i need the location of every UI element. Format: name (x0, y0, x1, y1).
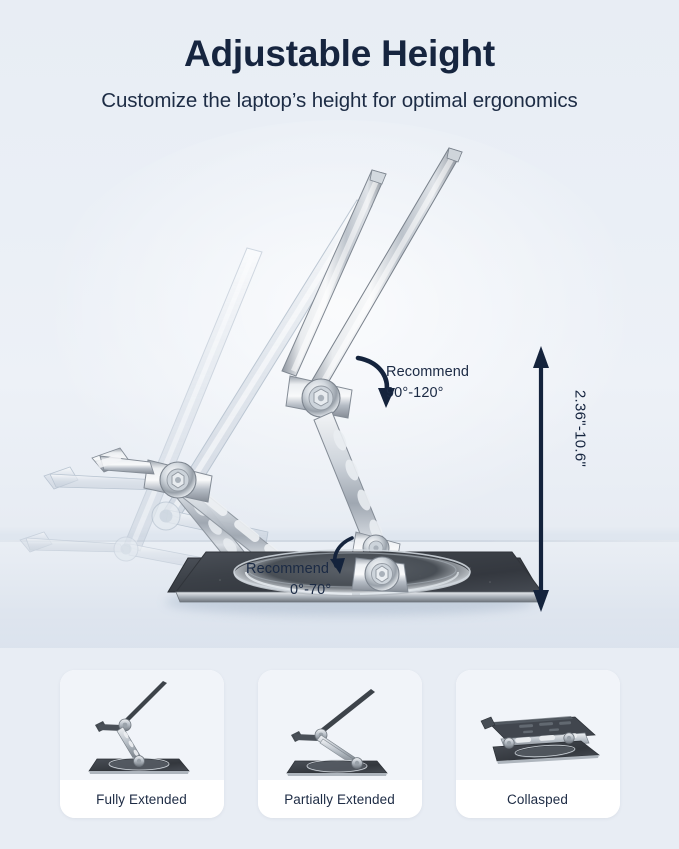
height-dimension-arrow (533, 346, 549, 612)
card-collapsed[interactable]: Collasped (456, 670, 620, 818)
page-subtitle: Customize the laptop’s height for optima… (0, 89, 679, 114)
height-range-label: 2.36"-10.6" (572, 369, 589, 489)
laptop-retaining-clip (92, 448, 154, 474)
state-cards: Fully Extended (0, 670, 679, 820)
annotation-tilt-lower: Recommend 0°-70° (246, 538, 331, 622)
header: Adjustable Height Customize the laptop’s… (0, 34, 679, 113)
card-label-collapsed: Collasped (456, 780, 620, 818)
card-image-partially-extended (258, 670, 422, 780)
product-infographic: Adjustable Height Customize the laptop’s… (0, 0, 679, 849)
card-label-fully-extended: Fully Extended (60, 780, 224, 818)
card-partially-extended[interactable]: Partially Extended (258, 670, 422, 818)
annotation-tilt-lower-line2: 0°-70° (246, 580, 331, 601)
annotation-tilt-upper: Recommend 90°-120° (386, 362, 469, 404)
card-image-fully-extended (60, 670, 224, 780)
annotation-tilt-lower-line1: Recommend (246, 561, 329, 577)
card-fully-extended[interactable]: Fully Extended (60, 670, 224, 818)
page-title: Adjustable Height (0, 34, 679, 75)
card-image-collapsed (456, 670, 620, 780)
card-label-partially-extended: Partially Extended (258, 780, 422, 818)
